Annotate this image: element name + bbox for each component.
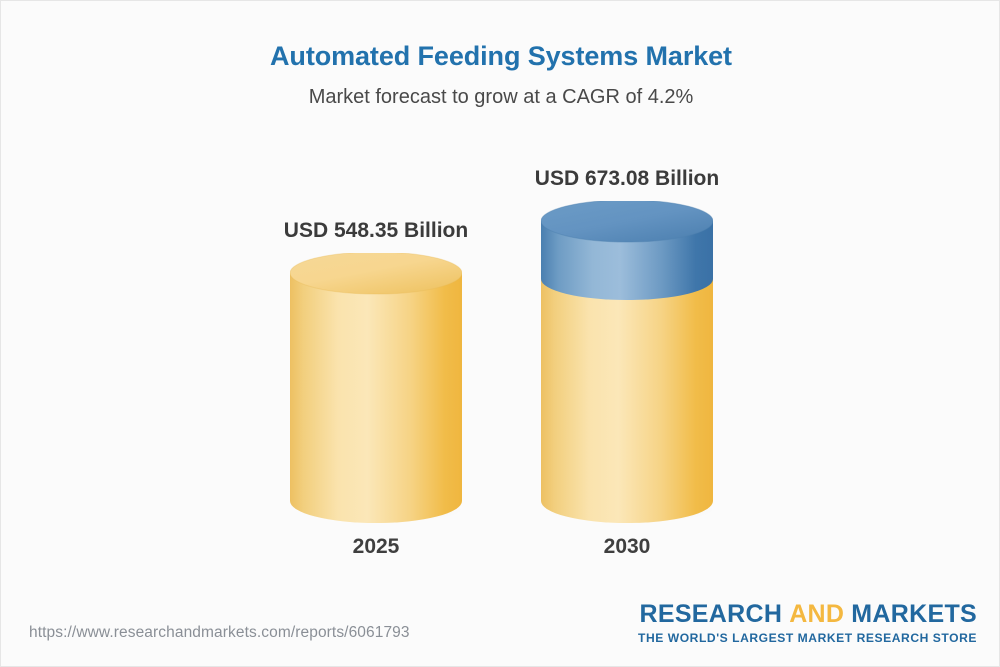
infographic-canvas: Automated Feeding Systems Market Market … xyxy=(0,0,1000,667)
logo-word-markets: MARKETS xyxy=(851,600,977,628)
bar-value-label-2025: USD 548.35 Billion xyxy=(246,218,506,244)
axis-category-label-2025: 2025 xyxy=(246,534,506,560)
chart-plot-area: USD 548.35 Billion xyxy=(1,1,1000,667)
report-url[interactable]: https://www.researchandmarkets.com/repor… xyxy=(29,623,410,643)
logo-tagline: THE WORLD'S LARGEST MARKET RESEARCH STOR… xyxy=(638,630,977,646)
cylinder-2025 xyxy=(290,253,462,525)
research-and-markets-logo[interactable]: RESEARCHANDMARKETS THE WORLD'S LARGEST M… xyxy=(638,601,977,646)
logo-word-research: RESEARCH xyxy=(640,600,783,628)
axis-category-label-2030: 2030 xyxy=(497,534,757,560)
logo-wordmark: RESEARCHANDMARKETS xyxy=(638,601,977,628)
logo-word-and: AND xyxy=(789,600,844,628)
cylinder-2030 xyxy=(541,201,713,525)
bar-value-label-2030: USD 673.08 Billion xyxy=(497,166,757,192)
